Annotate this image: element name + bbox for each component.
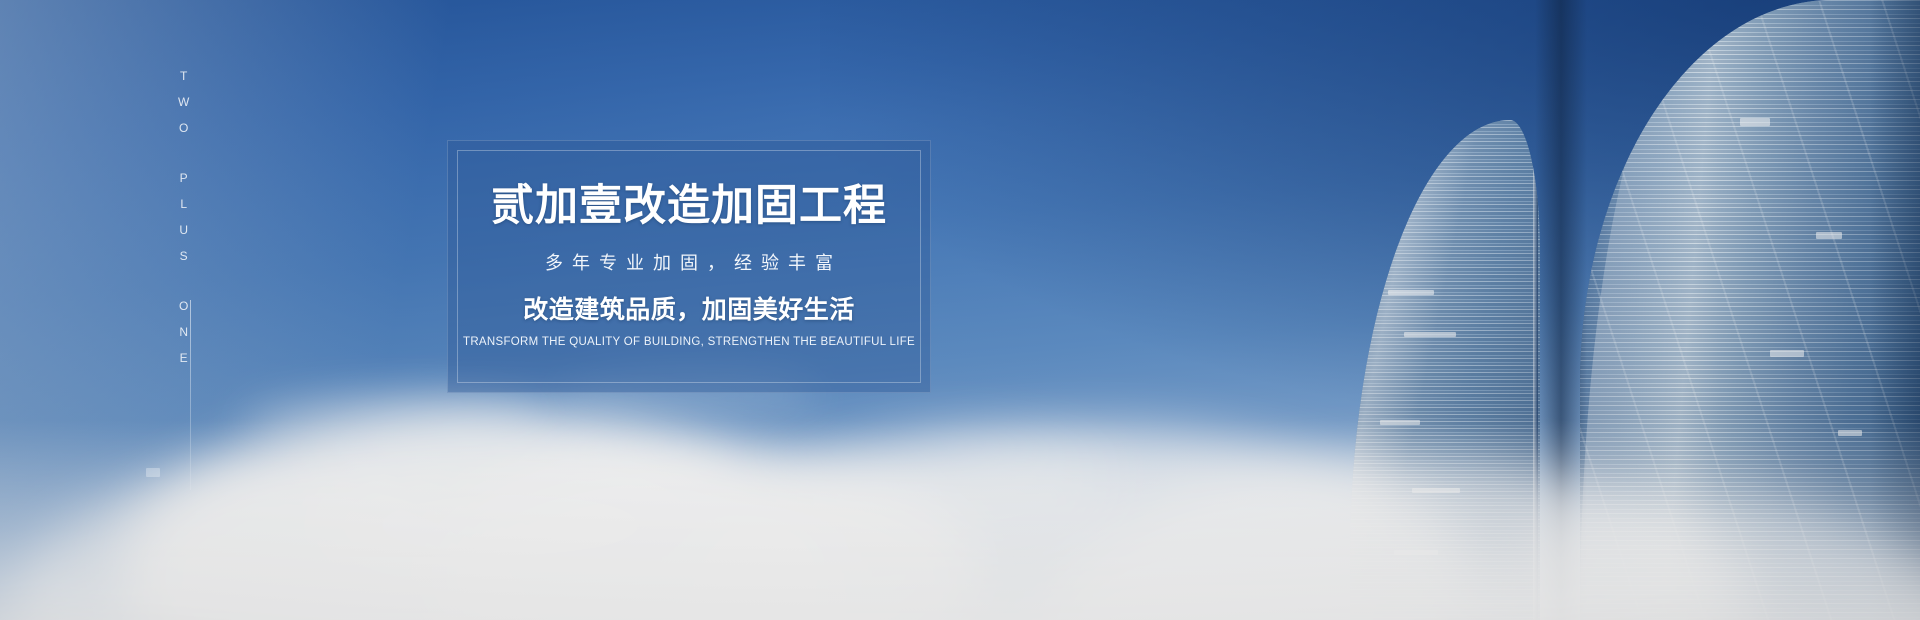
brand-letter: W (178, 96, 189, 108)
scene-vignette (0, 0, 1920, 620)
subtitle-english: TRANSFORM THE QUALITY OF BUILDING, STREN… (463, 337, 915, 349)
subtitle-bold: 改造建筑品质，加固美好生活 (523, 298, 855, 323)
subtitle-spaced: 多年专业加固，经验丰富 (536, 254, 842, 272)
brand-letter: U (179, 224, 188, 236)
brand-small-mark (146, 468, 160, 477)
brand-letter: S (180, 250, 188, 262)
brand-letter: L (180, 198, 187, 210)
brand-vertical-text: T W O P L U S O N E (178, 70, 189, 378)
brand-letter: O (179, 300, 188, 312)
brand-letter: T (180, 70, 187, 82)
panel-content: 贰加壹改造加固工程 多年专业加固，经验丰富 改造建筑品质，加固美好生活 TRAN… (448, 141, 930, 392)
brand-letter: P (180, 172, 188, 184)
brand-divider-line (190, 300, 191, 490)
page-title: 贰加壹改造加固工程 (491, 185, 887, 228)
brand-letter: N (179, 326, 188, 338)
hero-banner: T W O P L U S O N E 贰加壹改造加固工程 多年专业加固，经验丰… (0, 0, 1920, 620)
headline-panel: 贰加壹改造加固工程 多年专业加固，经验丰富 改造建筑品质，加固美好生活 TRAN… (447, 140, 931, 393)
brand-letter: O (179, 122, 188, 134)
brand-letter: E (180, 352, 188, 364)
